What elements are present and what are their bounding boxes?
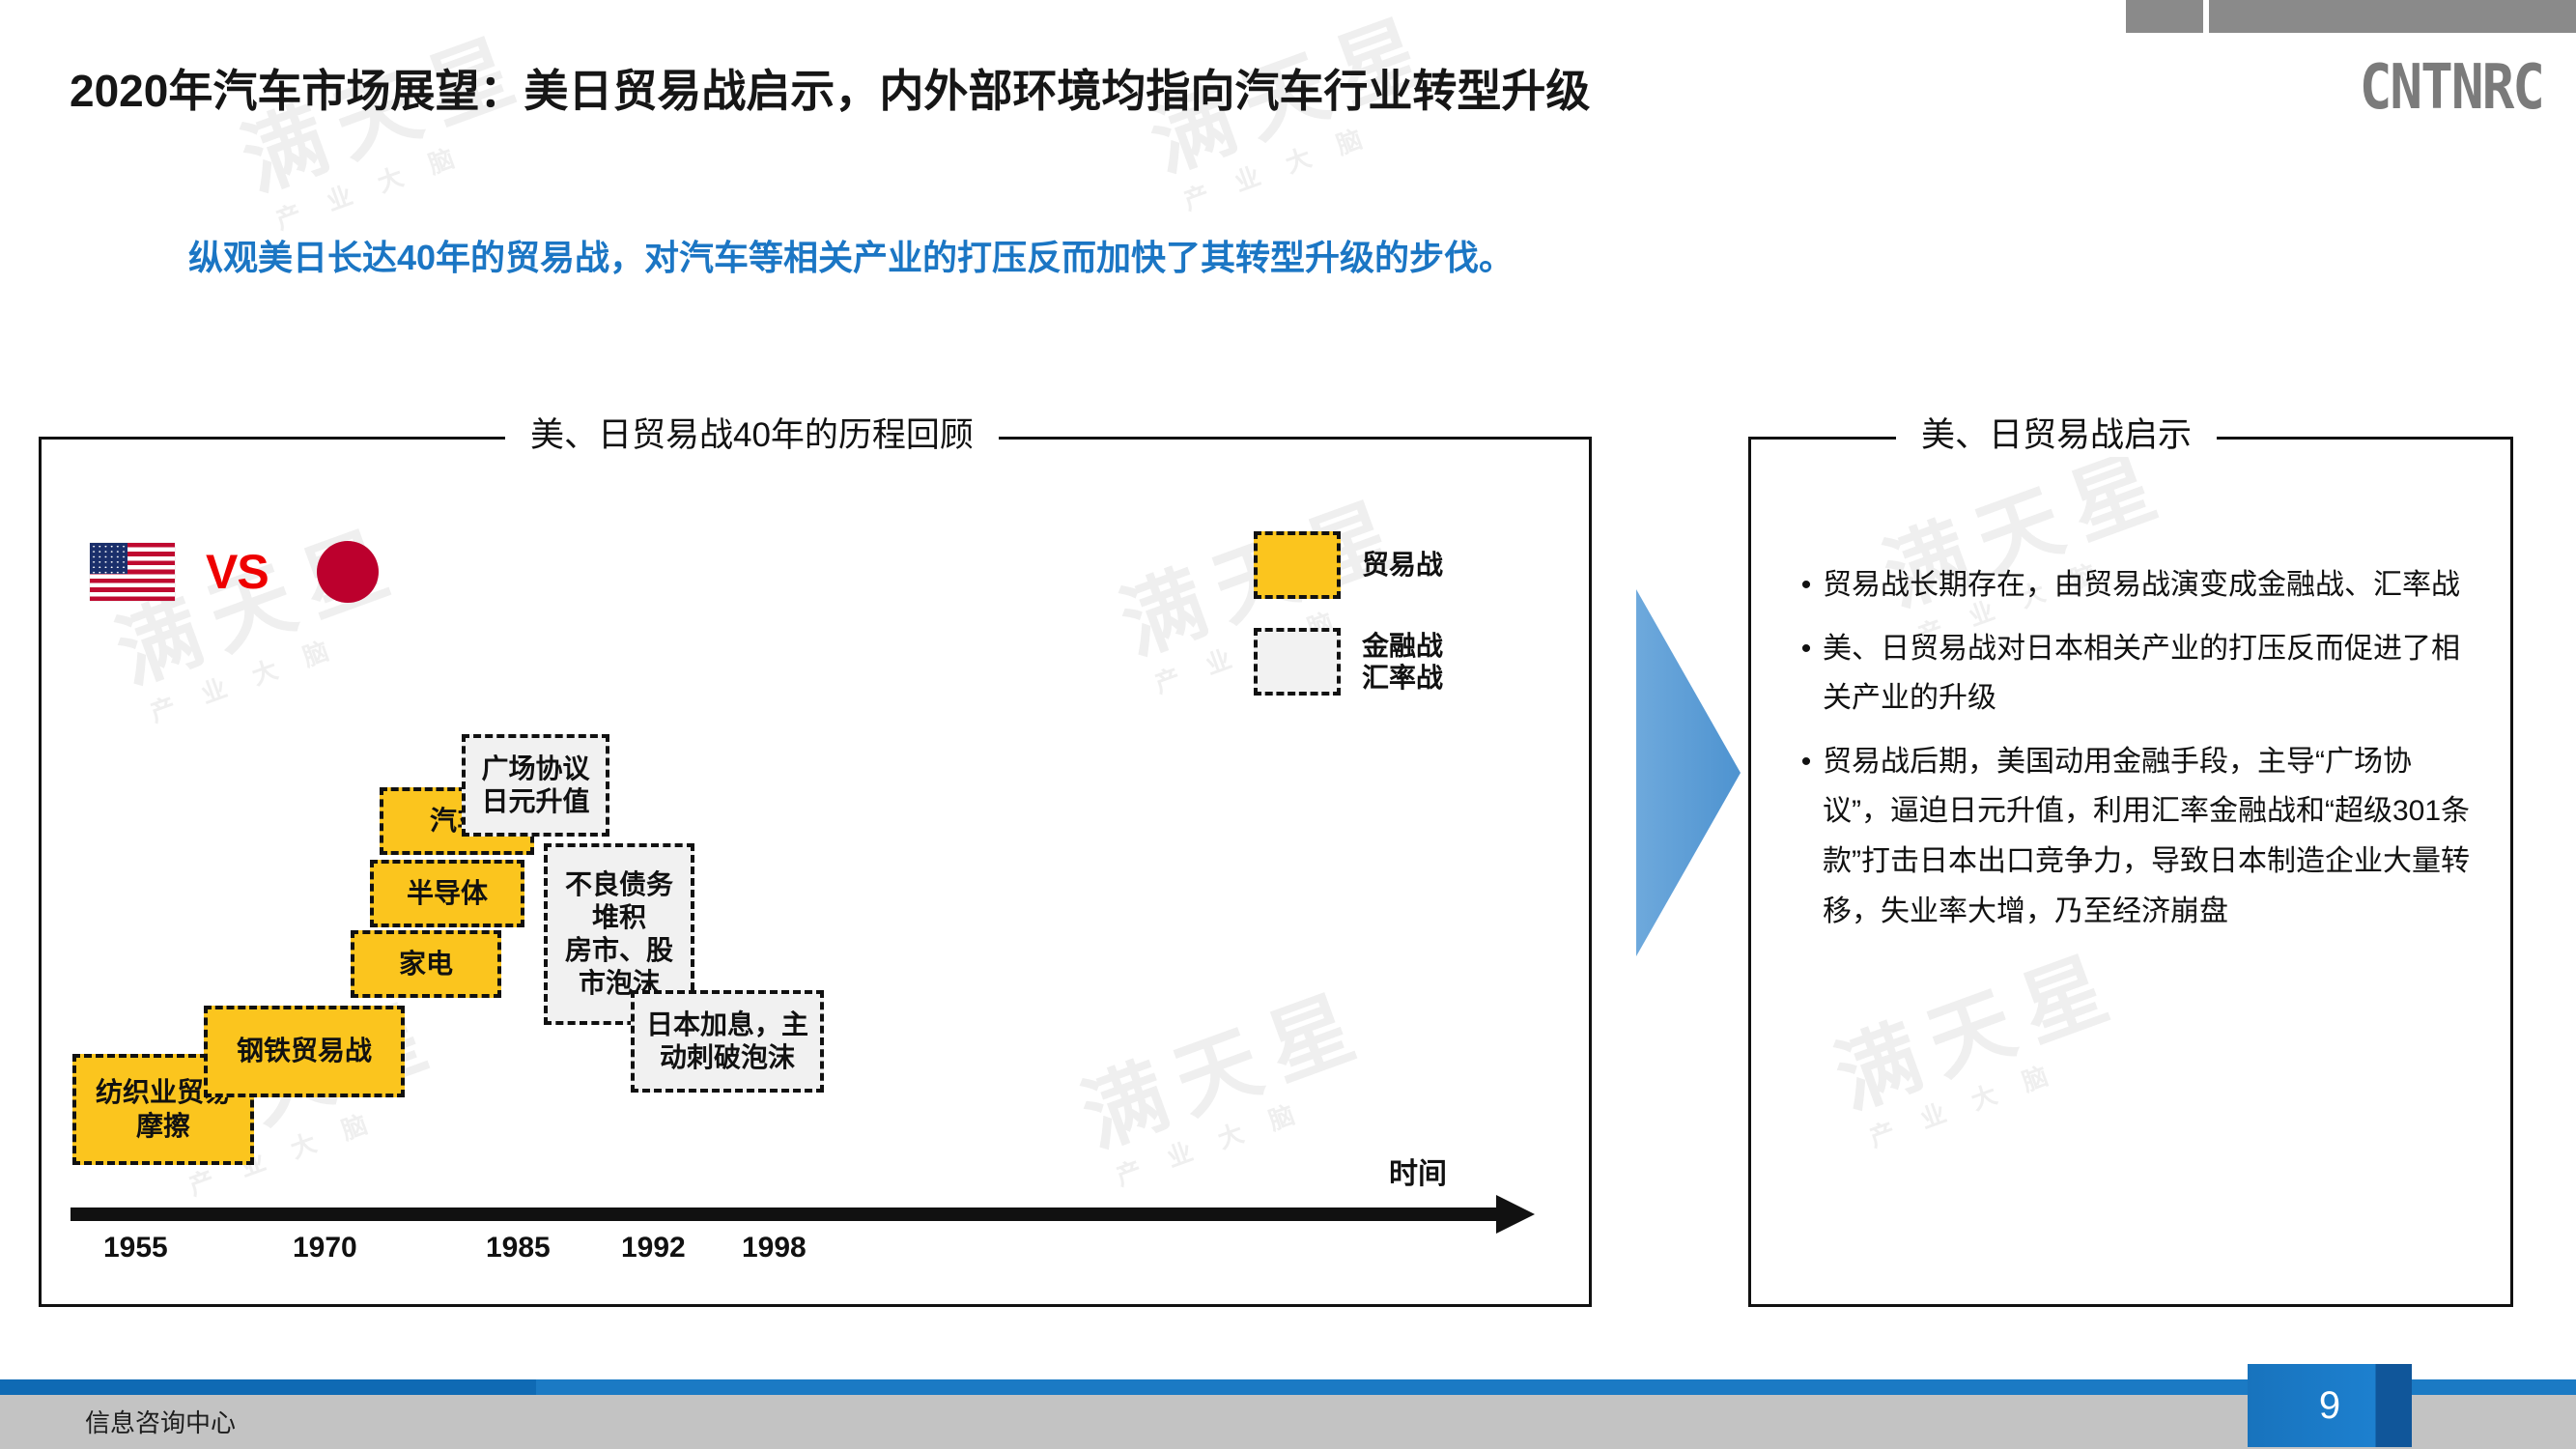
vs-label: VS [206,544,269,600]
footer-bar [0,1389,2576,1449]
list-item: • 美、日贸易战对日本相关产业的打压反而促进了相关产业的升级 [1790,624,2476,724]
event-box-semiconductor: 半导体 [370,860,524,927]
insights-panel-title: 美、日贸易战启示 [1896,408,2217,457]
timeline-axis [71,1207,1500,1221]
legend-label: 金融战 汇率战 [1362,630,1443,694]
footer-org-label: 信息咨询中心 [85,1404,236,1439]
legend-item: 贸易战 [1254,531,1443,599]
legend-label: 贸易战 [1362,549,1443,581]
bullet-text: 贸易战长期存在，由贸易战演变成金融战、汇率战 [1823,560,2460,611]
legend-swatch-trade-war [1254,531,1341,599]
insights-panel: 美、日贸易战启示 • 贸易战长期存在，由贸易战演变成金融战、汇率战 • 美、日贸… [1748,437,2513,1307]
japan-flag-icon [317,541,379,603]
footer-blue-line-left [0,1379,536,1395]
page-number-badge: 9 [2248,1364,2412,1447]
bullet-text: 美、日贸易战对日本相关产业的打压反而促进了相关产业的升级 [1823,624,2476,724]
page-number: 9 [2319,1384,2340,1428]
legend-item: 金融战 汇率战 [1254,628,1443,696]
header-grey-bar [2209,0,2576,33]
right-arrow-icon [1632,589,1743,956]
page-title: 2020年汽车市场展望：美日贸易战启示，内外部环境均指向汽车行业转型升级 [70,56,2098,120]
bullet-marker-icon: • [1790,737,1823,936]
axis-tick-1970: 1970 [293,1232,357,1264]
event-box-plaza-accord: 广场协议 日元升值 [462,734,609,837]
legend: 贸易战 金融战 汇率战 [1254,531,1443,724]
timeline-panel: 美、日贸易战40年的历程回顾 VS 贸易战 金融战 汇率战 纺织业贸易 摩擦 钢… [39,437,1592,1307]
event-box-appliance: 家电 [351,930,501,998]
slide: 满天星 产业大脑 满天星 产业大脑 满天星 产业大脑 满天星 产业大脑 满天星 … [0,0,2576,1449]
bullet-text: 贸易战后期，美国动用金融手段，主导“广场协议”，逼迫日元升值，利用汇率金融战和“… [1823,737,2476,936]
axis-tick-1955: 1955 [103,1232,168,1264]
subtitle: 纵观美日长达40年的贸易战，对汽车等相关产业的打压反而加快了其转型升级的步伐。 [188,230,1514,280]
axis-tick-1992: 1992 [621,1232,686,1264]
list-item: • 贸易战后期，美国动用金融手段，主导“广场协议”，逼迫日元升值，利用汇率金融战… [1790,737,2476,936]
legend-swatch-financial-war [1254,628,1341,696]
insights-bullet-list: • 贸易战长期存在，由贸易战演变成金融战、汇率战 • 美、日贸易战对日本相关产业… [1790,560,2476,950]
catarc-logo: CNTNRC [2360,51,2543,124]
timeline-panel-title: 美、日贸易战40年的历程回顾 [505,408,999,457]
event-box-steel: 钢铁贸易战 [204,1006,405,1097]
flags-vs-group: VS [90,541,379,603]
axis-tick-1985: 1985 [486,1232,551,1264]
event-box-japan-rate-hike: 日本加息，主 动刺破泡沫 [631,990,824,1093]
timeline-axis-label: 时间 [1389,1150,1447,1192]
axis-tick-1998: 1998 [742,1232,807,1264]
us-flag-icon [90,543,175,601]
bullet-marker-icon: • [1790,624,1823,724]
bullet-marker-icon: • [1790,560,1823,611]
list-item: • 贸易战长期存在，由贸易战演变成金融战、汇率战 [1790,560,2476,611]
watermark-small: 产业大脑 [272,112,550,234]
